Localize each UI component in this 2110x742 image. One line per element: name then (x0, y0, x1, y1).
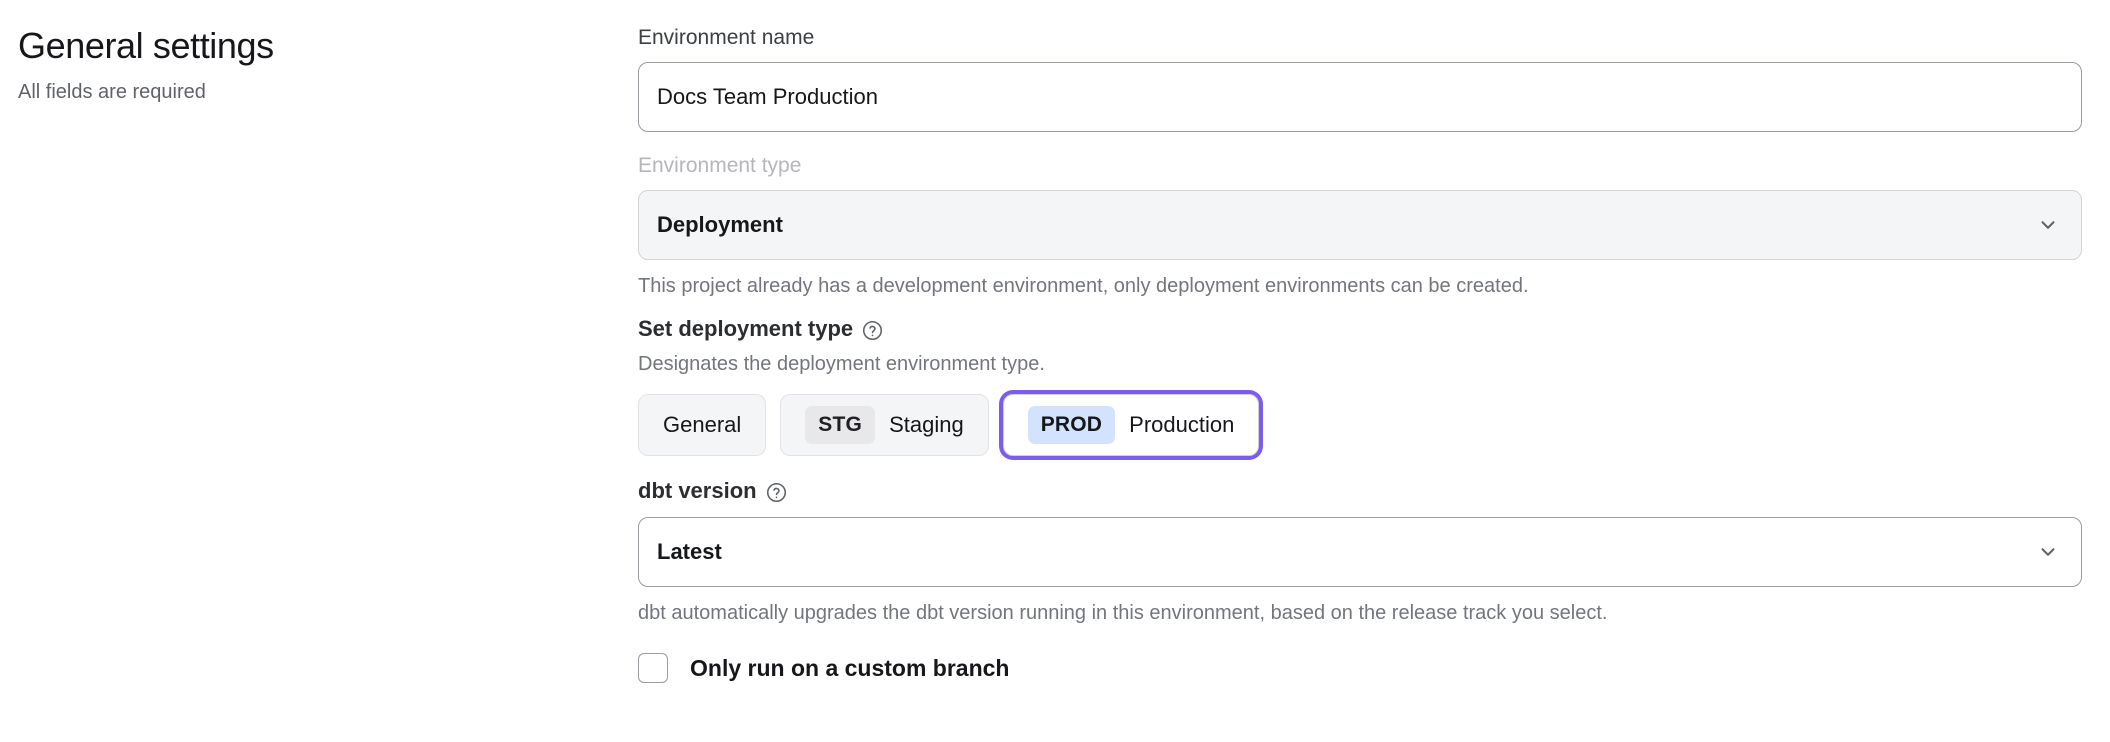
deployment-type-option-staging-label: Staging (889, 412, 964, 438)
custom-branch-row: Only run on a custom branch (638, 653, 2082, 683)
chevron-down-icon (2037, 541, 2059, 563)
deployment-type-option-general-label: General (663, 412, 741, 438)
general-settings-page: General settings All fields are required… (0, 0, 2110, 742)
dbt-version-heading: dbt version (638, 476, 2082, 506)
general-settings-form: Environment name Docs Team Production En… (638, 24, 2082, 683)
deployment-type-options: General STG Staging PROD Production (638, 394, 2082, 456)
question-circle-icon[interactable] (862, 319, 883, 340)
staging-badge: STG (805, 406, 875, 444)
page-subtitle: All fields are required (18, 78, 578, 106)
environment-name-input[interactable]: Docs Team Production (638, 62, 2082, 132)
settings-intro: General settings All fields are required (18, 24, 578, 106)
environment-name-value: Docs Team Production (657, 84, 878, 110)
deployment-type-label: Set deployment type (638, 314, 853, 344)
production-badge: PROD (1028, 406, 1115, 444)
dbt-version-label: dbt version (638, 476, 757, 506)
dbt-version-select[interactable]: Latest (638, 517, 2082, 587)
environment-type-label: Environment type (638, 152, 2082, 180)
deployment-type-option-production[interactable]: PROD Production (1003, 394, 1260, 456)
deployment-type-heading: Set deployment type (638, 314, 2082, 344)
dbt-version-value: Latest (657, 539, 722, 565)
question-circle-icon[interactable] (766, 481, 787, 502)
deployment-type-field-group: Set deployment type Designates the deplo… (638, 314, 2082, 456)
environment-type-value: Deployment (657, 212, 783, 238)
page-title: General settings (18, 24, 578, 68)
environment-type-help-text: This project already has a development e… (638, 272, 2082, 300)
custom-branch-label[interactable]: Only run on a custom branch (690, 655, 1009, 682)
dbt-version-help-text: dbt automatically upgrades the dbt versi… (638, 599, 2082, 627)
chevron-down-icon (2037, 214, 2059, 236)
deployment-type-option-staging[interactable]: STG Staging (780, 394, 988, 456)
environment-name-field-group: Environment name Docs Team Production (638, 24, 2082, 132)
custom-branch-checkbox[interactable] (638, 653, 668, 683)
environment-name-label: Environment name (638, 24, 2082, 52)
deployment-type-option-production-label: Production (1129, 412, 1234, 438)
dbt-version-field-group: dbt version Latest dbt automatically upg… (638, 476, 2082, 627)
deployment-type-description: Designates the deployment environment ty… (638, 350, 2082, 378)
deployment-type-option-general[interactable]: General (638, 394, 766, 456)
environment-type-field-group: Environment type Deployment This project… (638, 152, 2082, 300)
environment-type-select[interactable]: Deployment (638, 190, 2082, 260)
